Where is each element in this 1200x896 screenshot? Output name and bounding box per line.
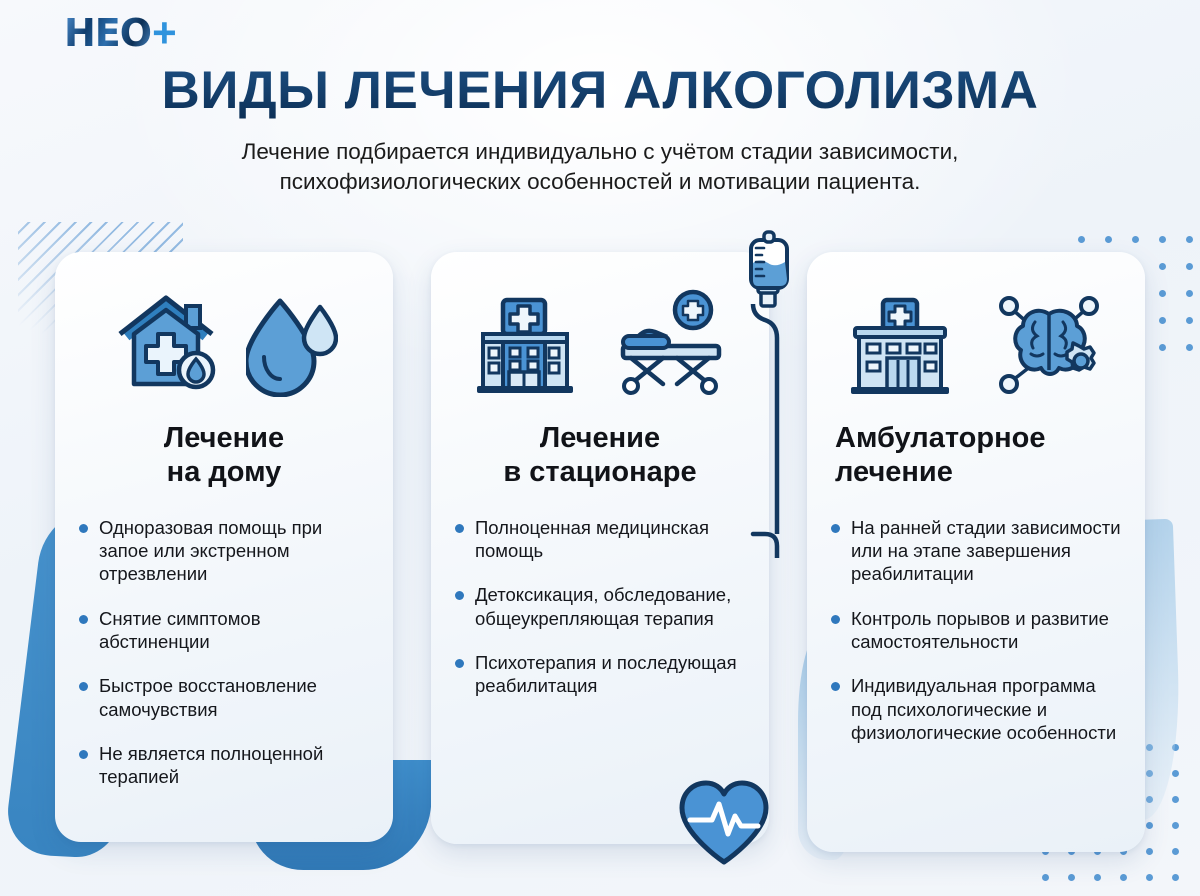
logo-plus-icon: + (152, 12, 176, 54)
brain-gear-icon (991, 288, 1107, 400)
hospital-bed-icon (615, 288, 727, 400)
card-outpatient-treatment[interactable]: Амбулаторное лечение На ранней стадии за… (807, 252, 1145, 852)
brand-logo[interactable]: НЕО+ (64, 12, 176, 54)
card-inpatient-title-line1: Лечение (540, 422, 660, 454)
card-inpatient-bullets: Полноценная медицинская помощь Детоксика… (453, 516, 747, 698)
list-item: Контроль порывов и развитие самостоятель… (829, 607, 1123, 654)
page-subtitle: Лечение подбирается индивидуально с учёт… (95, 137, 1105, 198)
list-item: Не является полноценной терапией (77, 742, 371, 789)
list-item: Полноценная медицинская помощь (453, 516, 747, 563)
water-droplet-icon (246, 291, 338, 397)
logo-text: НЕО (64, 14, 151, 52)
card-inpatient-title: Лечение в стационаре (453, 422, 747, 490)
page-title: ВИДЫ ЛЕЧЕНИЯ АЛКОГОЛИЗМА (0, 60, 1200, 121)
card-inpatient-treatment[interactable]: Лечение в стационаре Полноценная медицин… (431, 252, 769, 844)
card-home-icons (77, 280, 371, 408)
iv-drip-bag-icon (731, 228, 831, 563)
card-home-treatment[interactable]: Лечение на дому Одноразовая помощь при з… (55, 252, 393, 842)
list-item: Быстрое восстановление самочувствия (77, 674, 371, 721)
list-item: Снятие симптомов абстиненции (77, 607, 371, 654)
card-inpatient-title-line2: в стационаре (503, 456, 696, 488)
hospital-building-icon (473, 288, 599, 400)
treatment-cards-container: Лечение на дому Одноразовая помощь при з… (0, 252, 1200, 852)
card-home-title: Лечение на дому (77, 422, 371, 490)
home-medical-icon (110, 288, 230, 400)
card-outpatient-title-line2: лечение (835, 456, 953, 488)
list-item: Индивидуальная программа под психологиче… (829, 674, 1123, 744)
list-item: Детоксикация, обследование, общеукрепляю… (453, 583, 747, 630)
card-outpatient-bullets: На ранней стадии зависимости или на этап… (829, 516, 1123, 744)
card-outpatient-title-line1: Амбулаторное (835, 422, 1045, 454)
page-header: НЕО+ ВИДЫ ЛЕЧЕНИЯ АЛКОГОЛИЗМА Лечение по… (0, 0, 1200, 198)
subtitle-line-2: психофизиологических особенностей и моти… (280, 169, 921, 194)
card-outpatient-icons (829, 280, 1123, 408)
card-home-bullets: Одноразовая помощь при запое или экстрен… (77, 516, 371, 789)
card-inpatient-icons (453, 280, 747, 408)
list-item: На ранней стадии зависимости или на этап… (829, 516, 1123, 586)
card-home-title-line1: Лечение (164, 422, 284, 454)
list-item: Одноразовая помощь при запое или экстрен… (77, 516, 371, 586)
heart-pulse-icon (676, 778, 772, 871)
list-item: Психотерапия и последующая реабилитация (453, 651, 747, 698)
subtitle-line-1: Лечение подбирается индивидуально с учёт… (242, 139, 959, 164)
card-outpatient-title: Амбулаторное лечение (829, 422, 1123, 490)
clinic-building-icon (845, 288, 971, 400)
card-home-title-line2: на дому (167, 456, 282, 488)
